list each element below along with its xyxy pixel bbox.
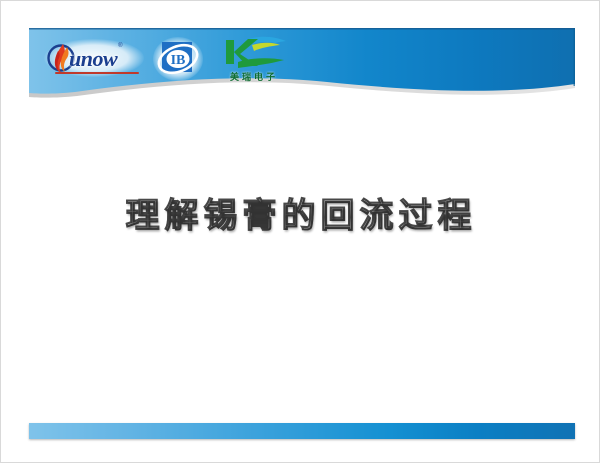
title-block: 理解锡膏的回流过程 bbox=[1, 197, 600, 236]
page-title: 理解锡膏的回流过程 bbox=[126, 197, 477, 236]
footer-bar bbox=[29, 423, 575, 439]
swoosh-icon bbox=[216, 34, 292, 72]
logo-meirui: 美瑞电子 bbox=[213, 34, 295, 84]
presentation-slide: unow ® IB bbox=[0, 0, 600, 463]
svg-text:IB: IB bbox=[171, 53, 186, 68]
logo-unow: unow ® bbox=[47, 39, 143, 79]
header-banner: unow ® IB bbox=[29, 28, 575, 98]
logo-unow-wordmark: unow bbox=[69, 48, 117, 70]
ellipse-badge-icon: IB bbox=[155, 37, 201, 81]
logo-unow-trademark: ® bbox=[118, 43, 122, 49]
logo-meirui-cn-name: 美瑞电子 bbox=[230, 70, 278, 83]
logo-ib: IB bbox=[155, 37, 201, 81]
logo-unow-underline bbox=[55, 72, 139, 74]
logo-row: unow ® IB bbox=[29, 28, 575, 90]
